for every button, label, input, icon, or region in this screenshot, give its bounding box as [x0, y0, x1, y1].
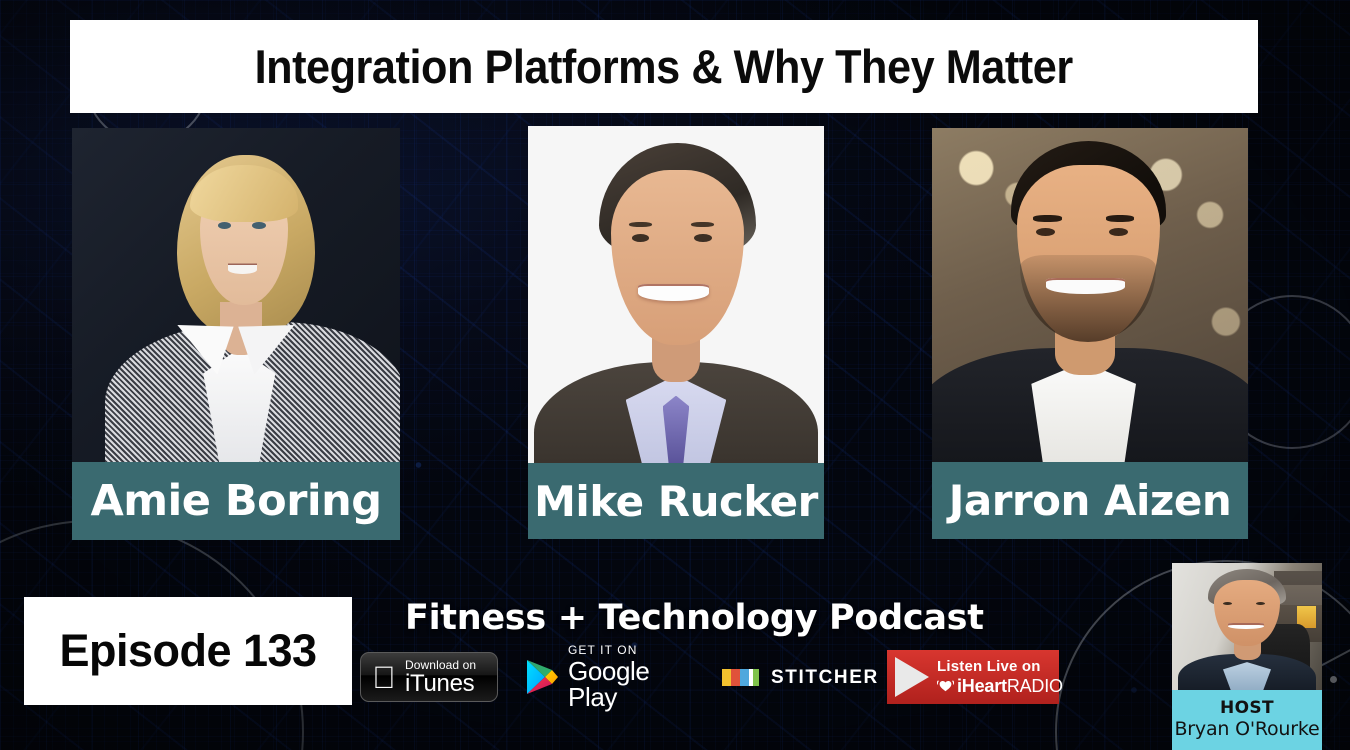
- iheart-brand-bold: iHeart: [957, 677, 1007, 695]
- stitcher-badge[interactable]: STITCHER: [722, 660, 872, 694]
- speaker-name: Mike Rucker: [534, 477, 818, 526]
- speaker-card-jarron-aizen: Jarron Aizen: [932, 128, 1248, 539]
- speaker-photo-mike-rucker: [528, 126, 824, 463]
- speaker-name: Amie Boring: [90, 476, 381, 526]
- speaker-name-bar: Mike Rucker: [528, 463, 824, 539]
- platform-badges-row:  Download on iTunes: [360, 652, 1060, 704]
- episode-number-box: Episode 133: [24, 597, 352, 705]
- host-role-label: HOST: [1220, 700, 1274, 718]
- speaker-name-bar: Amie Boring: [72, 462, 400, 540]
- host-label-bar: HOST Bryan O'Rourke: [1172, 690, 1322, 750]
- iheart-badge-line1: Listen Live on: [937, 659, 1063, 674]
- episode-title-bar: Integration Platforms & Why They Matter: [70, 20, 1258, 113]
- iheartradio-badge[interactable]: Listen Live on iHeartRADIO: [887, 650, 1059, 704]
- host-panel: HOST Bryan O'Rourke: [1172, 563, 1322, 750]
- episode-number-label: Episode 133: [59, 625, 316, 677]
- portrait-illustration: [932, 128, 1248, 462]
- speaker-card-amie-boring: Amie Boring: [72, 128, 400, 540]
- speaker-name-bar: Jarron Aizen: [932, 462, 1248, 539]
- itunes-badge[interactable]:  Download on iTunes: [360, 652, 498, 702]
- podcast-episode-poster: Integration Platforms & Why They Matter …: [0, 0, 1350, 750]
- portrait-illustration: [72, 128, 400, 462]
- itunes-badge-line2: iTunes: [405, 672, 476, 696]
- speaker-card-mike-rucker: Mike Rucker: [528, 126, 824, 539]
- speaker-name: Jarron Aizen: [949, 476, 1232, 525]
- podcast-name-label: Fitness + Technology Podcast: [405, 598, 950, 638]
- portrait-illustration: [528, 126, 824, 463]
- iheartradio-heart-icon: [937, 678, 954, 695]
- google-play-triangle-icon: [525, 658, 559, 696]
- google-play-badge-line2: Google Play: [568, 658, 700, 710]
- host-name-label: Bryan O'Rourke: [1174, 719, 1319, 741]
- host-photo-bryan-orourke: [1172, 563, 1322, 690]
- itunes-badge-line1: Download on: [405, 659, 476, 671]
- play-triangle-icon: [895, 657, 929, 697]
- apple-logo-icon: : [370, 660, 398, 694]
- stitcher-badge-label: STITCHER: [771, 668, 879, 687]
- google-play-badge[interactable]: GET IT ON Google Play: [525, 652, 700, 702]
- stitcher-bars-icon: [722, 669, 759, 686]
- google-play-badge-line1: GET IT ON: [568, 644, 700, 656]
- speaker-photo-jarron-aizen: [932, 128, 1248, 462]
- portrait-illustration: [1172, 563, 1322, 690]
- iheart-brand-thin: RADIO: [1007, 677, 1063, 695]
- page-title: Integration Platforms & Why They Matter: [255, 39, 1073, 94]
- speaker-photo-amie-boring: [72, 128, 400, 462]
